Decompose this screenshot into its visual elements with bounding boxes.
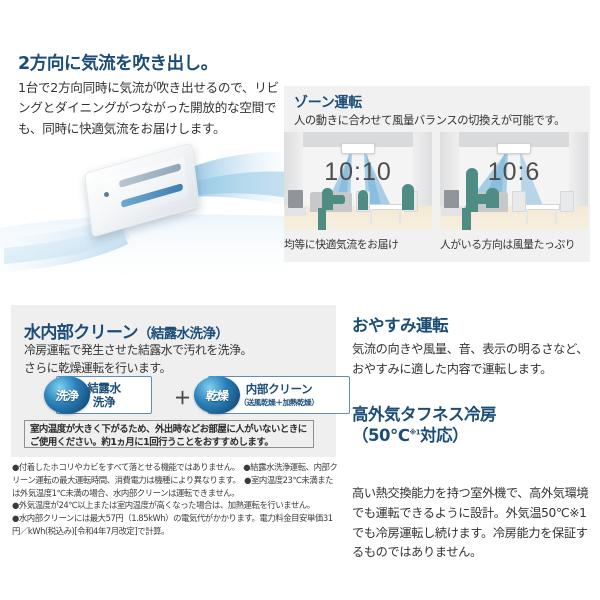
zone-ratio-value: 10:10 <box>324 158 392 187</box>
orb-label: 洗浄 <box>55 387 79 404</box>
tough-heading-line1: 高外気タフネス冷房 <box>352 405 496 424</box>
table-leg <box>526 209 528 224</box>
person-silhouette <box>402 184 414 210</box>
zone-room-balanced: 10:10 <box>284 132 432 230</box>
brochure-page: 2方向に気流を吹き出し。 1台で2方向同時に気流が吹き出せるので、リビングとダイ… <box>0 0 600 600</box>
tough-cooling-body: 高い熱交換能力を持つ室外機で、高外気環境でも運転できるように設計。外気温50℃※… <box>352 484 592 563</box>
zone-title: ゾーン運転 <box>294 92 362 112</box>
water-clean-title-paren: （結露水洗浄） <box>138 326 228 342</box>
badge-label: 内部クリーン <box>246 382 313 396</box>
plus-symbol: ＋ <box>174 384 191 409</box>
wash-orb-icon: 洗浄 <box>44 376 90 414</box>
orb-label: 乾燥 <box>205 387 229 404</box>
sleep-mode-body: 気流の向きや風量、音、表示の明るさなど、おやすみに適した内容で運転します。 <box>352 340 590 380</box>
water-clean-body: 冷房運転で発生させた結露水で汚れを洗浄。 さらに乾燥運転を行います。 <box>24 342 324 378</box>
table-leg <box>399 209 401 224</box>
badge-sublabel: （送風乾燥＋加熱乾燥） <box>239 397 318 408</box>
water-clean-badges: 結露水 洗浄 洗浄 ＋ 内部クリーン （送風乾燥＋加熱乾燥） 乾燥 <box>22 376 328 414</box>
air-conditioner-illustration <box>0 120 288 290</box>
water-clean-title: 水内部クリーン（結露水洗浄） <box>24 318 228 343</box>
person-silhouette <box>466 168 478 212</box>
hero-heading: 2方向に気流を吹き出し。 <box>18 50 276 75</box>
chair <box>560 191 574 212</box>
ceiling-cassette-icon <box>341 143 375 154</box>
chair <box>512 191 526 212</box>
tv-stand <box>441 207 462 216</box>
tv-icon <box>444 190 459 208</box>
tough-heading-line2: （50℃ <box>352 426 409 445</box>
zone-ratio-value: 10:6 <box>488 158 541 187</box>
person-silhouette <box>318 208 326 230</box>
table-leg <box>370 209 372 224</box>
tough-heading-line3: 対応） <box>420 426 468 445</box>
table-leg <box>555 209 557 224</box>
dry-orb-icon: 乾燥 <box>194 376 240 414</box>
person-silhouette <box>462 208 471 230</box>
water-clean-note: 室内温度が大きく下がるため、外出時などお部屋に人がいないときにご使用ください。約… <box>24 420 314 448</box>
tv-icon <box>288 190 303 208</box>
ceiling-cassette-icon <box>497 143 531 154</box>
fineprint-disclaimer: ●付着したホコリやカビをすべて落とせる機能ではありません。 ●結露水洗浄運転、内… <box>12 461 338 538</box>
zone-caption-balanced: 均等に快適気流をお届け <box>284 236 398 252</box>
tough-heading-footnote-mark: ※1 <box>409 429 420 437</box>
sleep-mode-heading: おやすみ運転 <box>352 312 448 336</box>
tv-stand <box>285 207 306 216</box>
badge-label: 結露水 洗浄 <box>87 381 121 410</box>
water-clean-title-main: 水内部クリーン <box>24 323 138 343</box>
zone-subtitle: 人の動きに合わせて風量バランスの切換えが可能です。 <box>294 112 588 128</box>
person-silhouette <box>358 190 368 210</box>
zone-caption-weighted: 人がいる方向は風量たっぷり <box>440 236 575 252</box>
tough-cooling-heading: 高外気タフネス冷房 （50℃※1対応） <box>352 404 496 446</box>
person-silhouette <box>331 195 345 204</box>
zone-room-weighted: 10:6 <box>440 132 588 230</box>
person-silhouette <box>486 188 499 208</box>
